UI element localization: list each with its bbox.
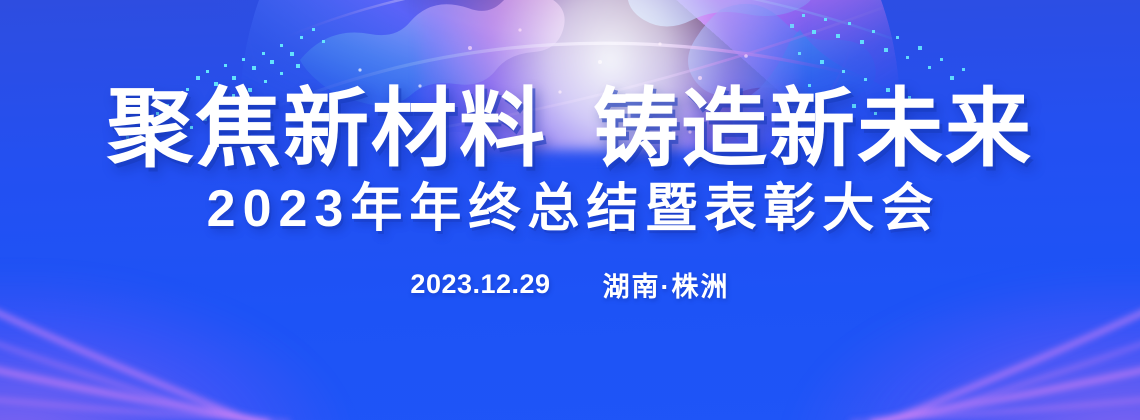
headline: 聚焦新材料 铸造新未来 bbox=[107, 86, 1033, 172]
event-date: 2023.12.29 bbox=[410, 269, 550, 300]
subtitle: 2023年年终总结暨表彰大会 bbox=[200, 182, 941, 237]
event-meta: 2023.12.29 湖南·株洲 bbox=[410, 265, 729, 304]
event-location: 湖南·株洲 bbox=[603, 265, 730, 304]
headline-part-1: 聚焦新材料 bbox=[107, 86, 547, 172]
banner-content: 聚焦新材料 铸造新未来 2023年年终总结暨表彰大会 2023.12.29 湖南… bbox=[0, 0, 1140, 420]
event-banner: 聚焦新材料 铸造新未来 2023年年终总结暨表彰大会 2023.12.29 湖南… bbox=[0, 0, 1140, 420]
headline-part-2: 铸造新未来 bbox=[593, 86, 1033, 172]
